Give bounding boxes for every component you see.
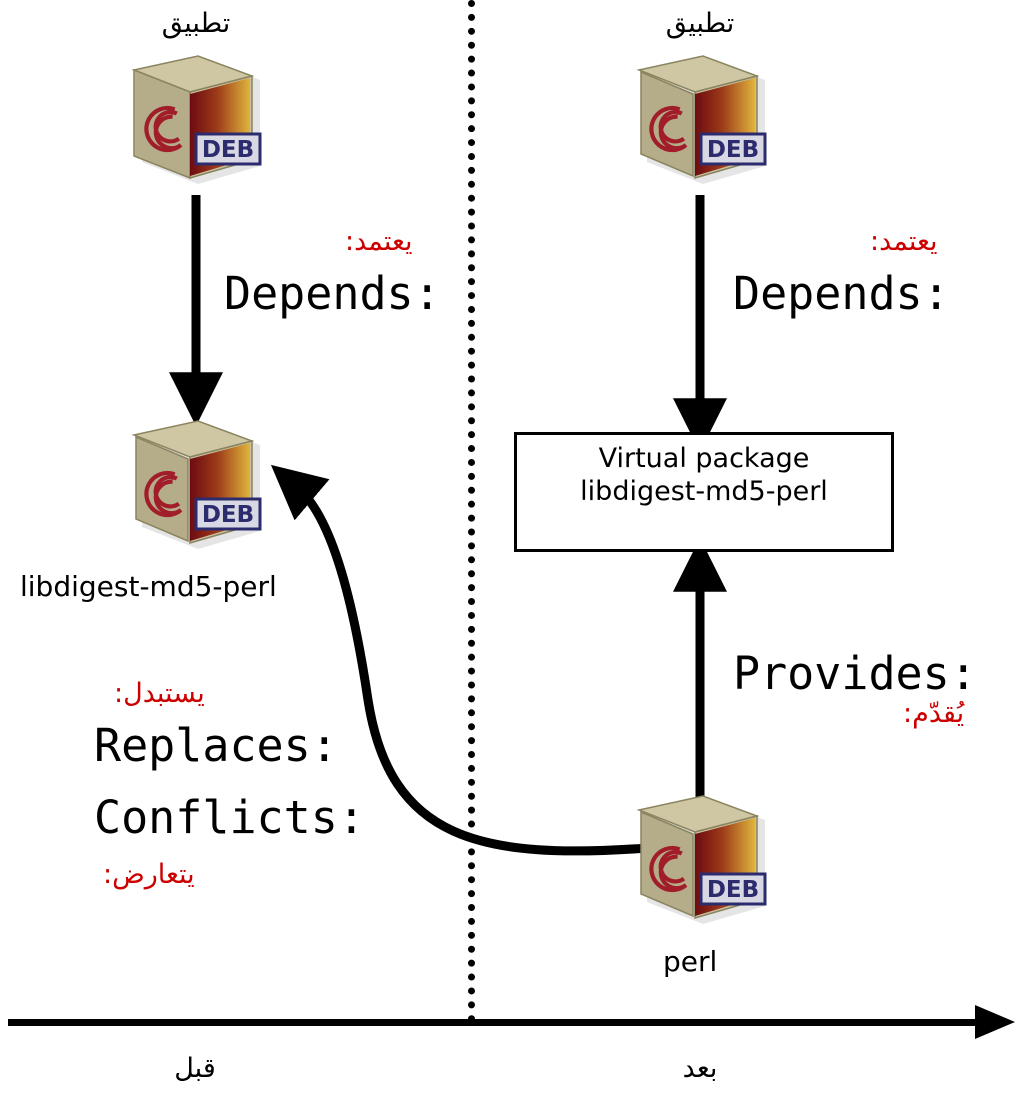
diagram-canvas: DEB DEB bbox=[0, 0, 1024, 1095]
deb-package-icon: DEB bbox=[625, 790, 775, 930]
before-app-label: تطبيق bbox=[96, 8, 296, 39]
svg-text:DEB: DEB bbox=[707, 137, 759, 163]
time-axis-line bbox=[8, 1019, 993, 1026]
axis-label-before: قبل bbox=[100, 1053, 290, 1084]
virtual-package-box: Virtual package libdigest-md5-perl bbox=[514, 432, 894, 552]
provides-arabic-label: يُقدّم: bbox=[903, 698, 964, 729]
replaces-field: Replaces: bbox=[94, 719, 338, 772]
before-package-name: libdigest-md5-perl bbox=[20, 570, 277, 603]
conflicts-field: Conflicts: bbox=[94, 791, 365, 844]
deb-package-icon: DEB bbox=[120, 50, 270, 190]
svg-text:DEB: DEB bbox=[202, 137, 254, 163]
conflicts-arabic-label: يتعارض: bbox=[103, 859, 195, 890]
time-axis-arrowhead bbox=[975, 1000, 1024, 1044]
replaces-arabic-label: يستبدل: bbox=[114, 678, 205, 709]
before-depends-field: Depends: bbox=[224, 267, 441, 320]
after-package-name: perl bbox=[663, 945, 717, 978]
timeline-divider bbox=[468, 0, 475, 1023]
deb-package-icon: DEB bbox=[625, 50, 775, 190]
after-depends-arabic-label: يعتمد: bbox=[870, 226, 938, 257]
deb-package-icon: DEB bbox=[120, 415, 270, 555]
before-depends-arabic-label: يعتمد: bbox=[345, 226, 413, 257]
provides-field: Provides: bbox=[733, 647, 977, 700]
svg-text:DEB: DEB bbox=[707, 877, 759, 903]
after-depends-field: Depends: bbox=[733, 267, 950, 320]
virtual-package-line2: libdigest-md5-perl bbox=[531, 476, 877, 509]
axis-label-after: بعد bbox=[605, 1053, 795, 1084]
virtual-package-line1: Virtual package bbox=[531, 443, 877, 476]
after-app-label: تطبيق bbox=[600, 8, 800, 39]
svg-text:DEB: DEB bbox=[202, 502, 254, 528]
